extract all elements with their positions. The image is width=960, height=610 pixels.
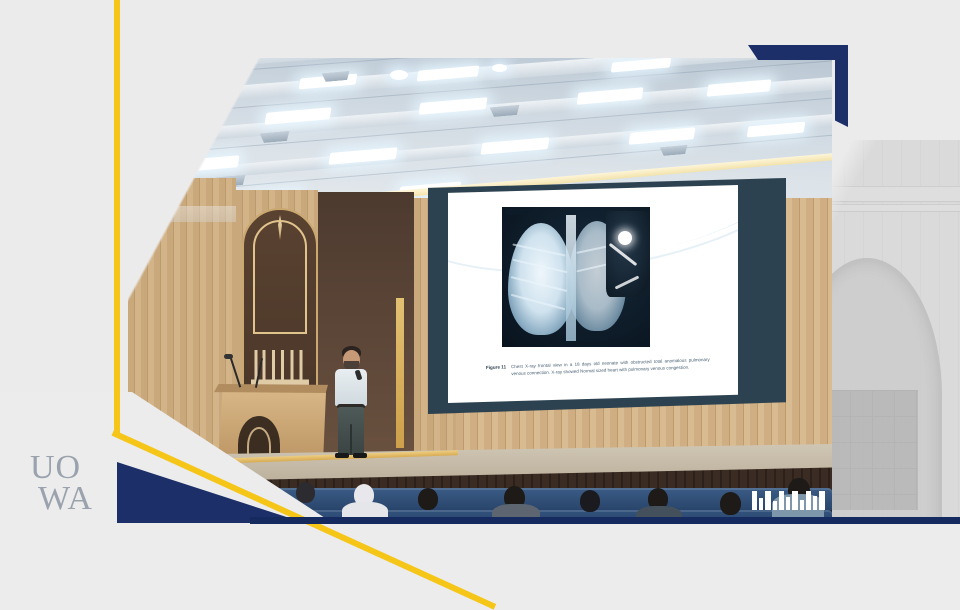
speaker-shirt [335, 369, 367, 406]
presentation-slide: Figure 11 Chest X-ray frontal view in a … [448, 185, 738, 403]
uowa-logo: UO WA [30, 452, 93, 515]
audience-head [720, 492, 741, 515]
audience-head [418, 488, 438, 510]
ceiling-spotlight [142, 92, 159, 101]
navy-bottom-bar [250, 517, 960, 524]
navy-corner-bracket-top [748, 45, 848, 60]
navy-corner-bracket-right [835, 45, 848, 127]
kufic-glyph [786, 497, 790, 510]
bottom-white-strip [0, 524, 960, 580]
kufic-glyph [806, 491, 811, 510]
kufic-glyph [813, 496, 817, 510]
wall-accent-strip [396, 298, 404, 448]
speaker-with-microphone [328, 346, 374, 466]
ceiling-air-vent [660, 145, 689, 156]
kufic-glyph [800, 500, 804, 510]
podium-microphone-head [224, 354, 233, 359]
podium-top-surface [214, 384, 328, 393]
chest-xray-frontal-view [502, 207, 650, 347]
speaker-shoe-left [335, 453, 349, 458]
kufic-glyph [779, 491, 784, 510]
xray-dark-field [606, 211, 650, 297]
kufic-glyph [752, 491, 757, 510]
kufic-glyph [792, 491, 798, 510]
ceiling-spotlight [390, 70, 408, 80]
kufic-glyph [765, 491, 771, 510]
calligraphy-arch [253, 220, 308, 334]
kufic-glyph [759, 498, 763, 510]
speaker-shoe-right [353, 453, 367, 458]
figure-label: Figure 11 [486, 364, 507, 379]
kufic-glyph [819, 491, 825, 510]
speaker-leg-gap [350, 424, 352, 455]
ceiling-spotlight [492, 64, 507, 72]
xray-spine [566, 215, 576, 341]
yellow-accent-line-vertical [114, 0, 120, 434]
figure-caption-text: Chest X-ray frontal view in a 18 days ol… [511, 357, 710, 378]
uowa-logo-line-1: UO [30, 452, 93, 483]
uowa-logo-line-2: WA [38, 483, 93, 514]
xray-marker-bar [506, 209, 532, 215]
auditorium-lecture-photo: Figure 11 Chest X-ray frontal view in a … [128, 58, 832, 523]
audience-head [296, 482, 315, 503]
page-canvas: Figure 11 Chest X-ray frontal view in a … [0, 0, 960, 580]
xray-bright-marker [618, 231, 632, 245]
audience-head [580, 490, 600, 512]
kufic-glyph [773, 501, 777, 510]
kufic-arabic-logo [752, 491, 825, 510]
slide-caption: Figure 11 Chest X-ray frontal view in a … [486, 357, 710, 379]
building-window-right [828, 390, 918, 510]
